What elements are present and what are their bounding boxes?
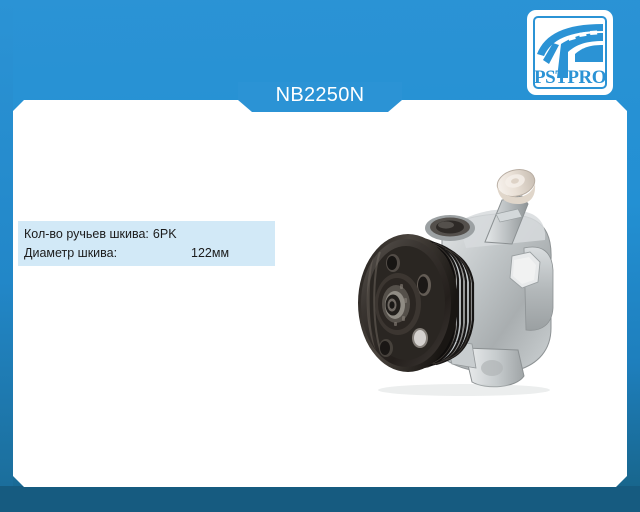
spec-row: Диаметр шкива: 122мм (24, 244, 275, 263)
left-edge-accent (0, 0, 13, 512)
page-title: NB2250N (276, 82, 365, 107)
spec-value-ribs: 6PK (153, 225, 177, 244)
spec-value-diameter: 122мм (191, 244, 229, 263)
title-banner: NB2250N (238, 82, 402, 112)
spec-label-diameter: Диаметр шкива: (24, 244, 146, 263)
power-steering-pump-illustration (346, 152, 582, 400)
brand-logo: PSTPRO (527, 10, 613, 95)
specifications-block: Кол-во ручьев шкива: 6PK Диаметр шкива: … (18, 221, 275, 266)
product-card-page: NB2250N PSTPRO Кол-во ручьев шкив (0, 0, 640, 512)
spec-label-ribs: Кол-во ручьев шкива: (24, 225, 149, 244)
bottom-accent-band (0, 486, 640, 512)
logo-wordmark: PSTPRO (527, 68, 613, 87)
spec-row: Кол-во ручьев шкива: 6PK (24, 225, 275, 244)
product-image (346, 152, 582, 400)
